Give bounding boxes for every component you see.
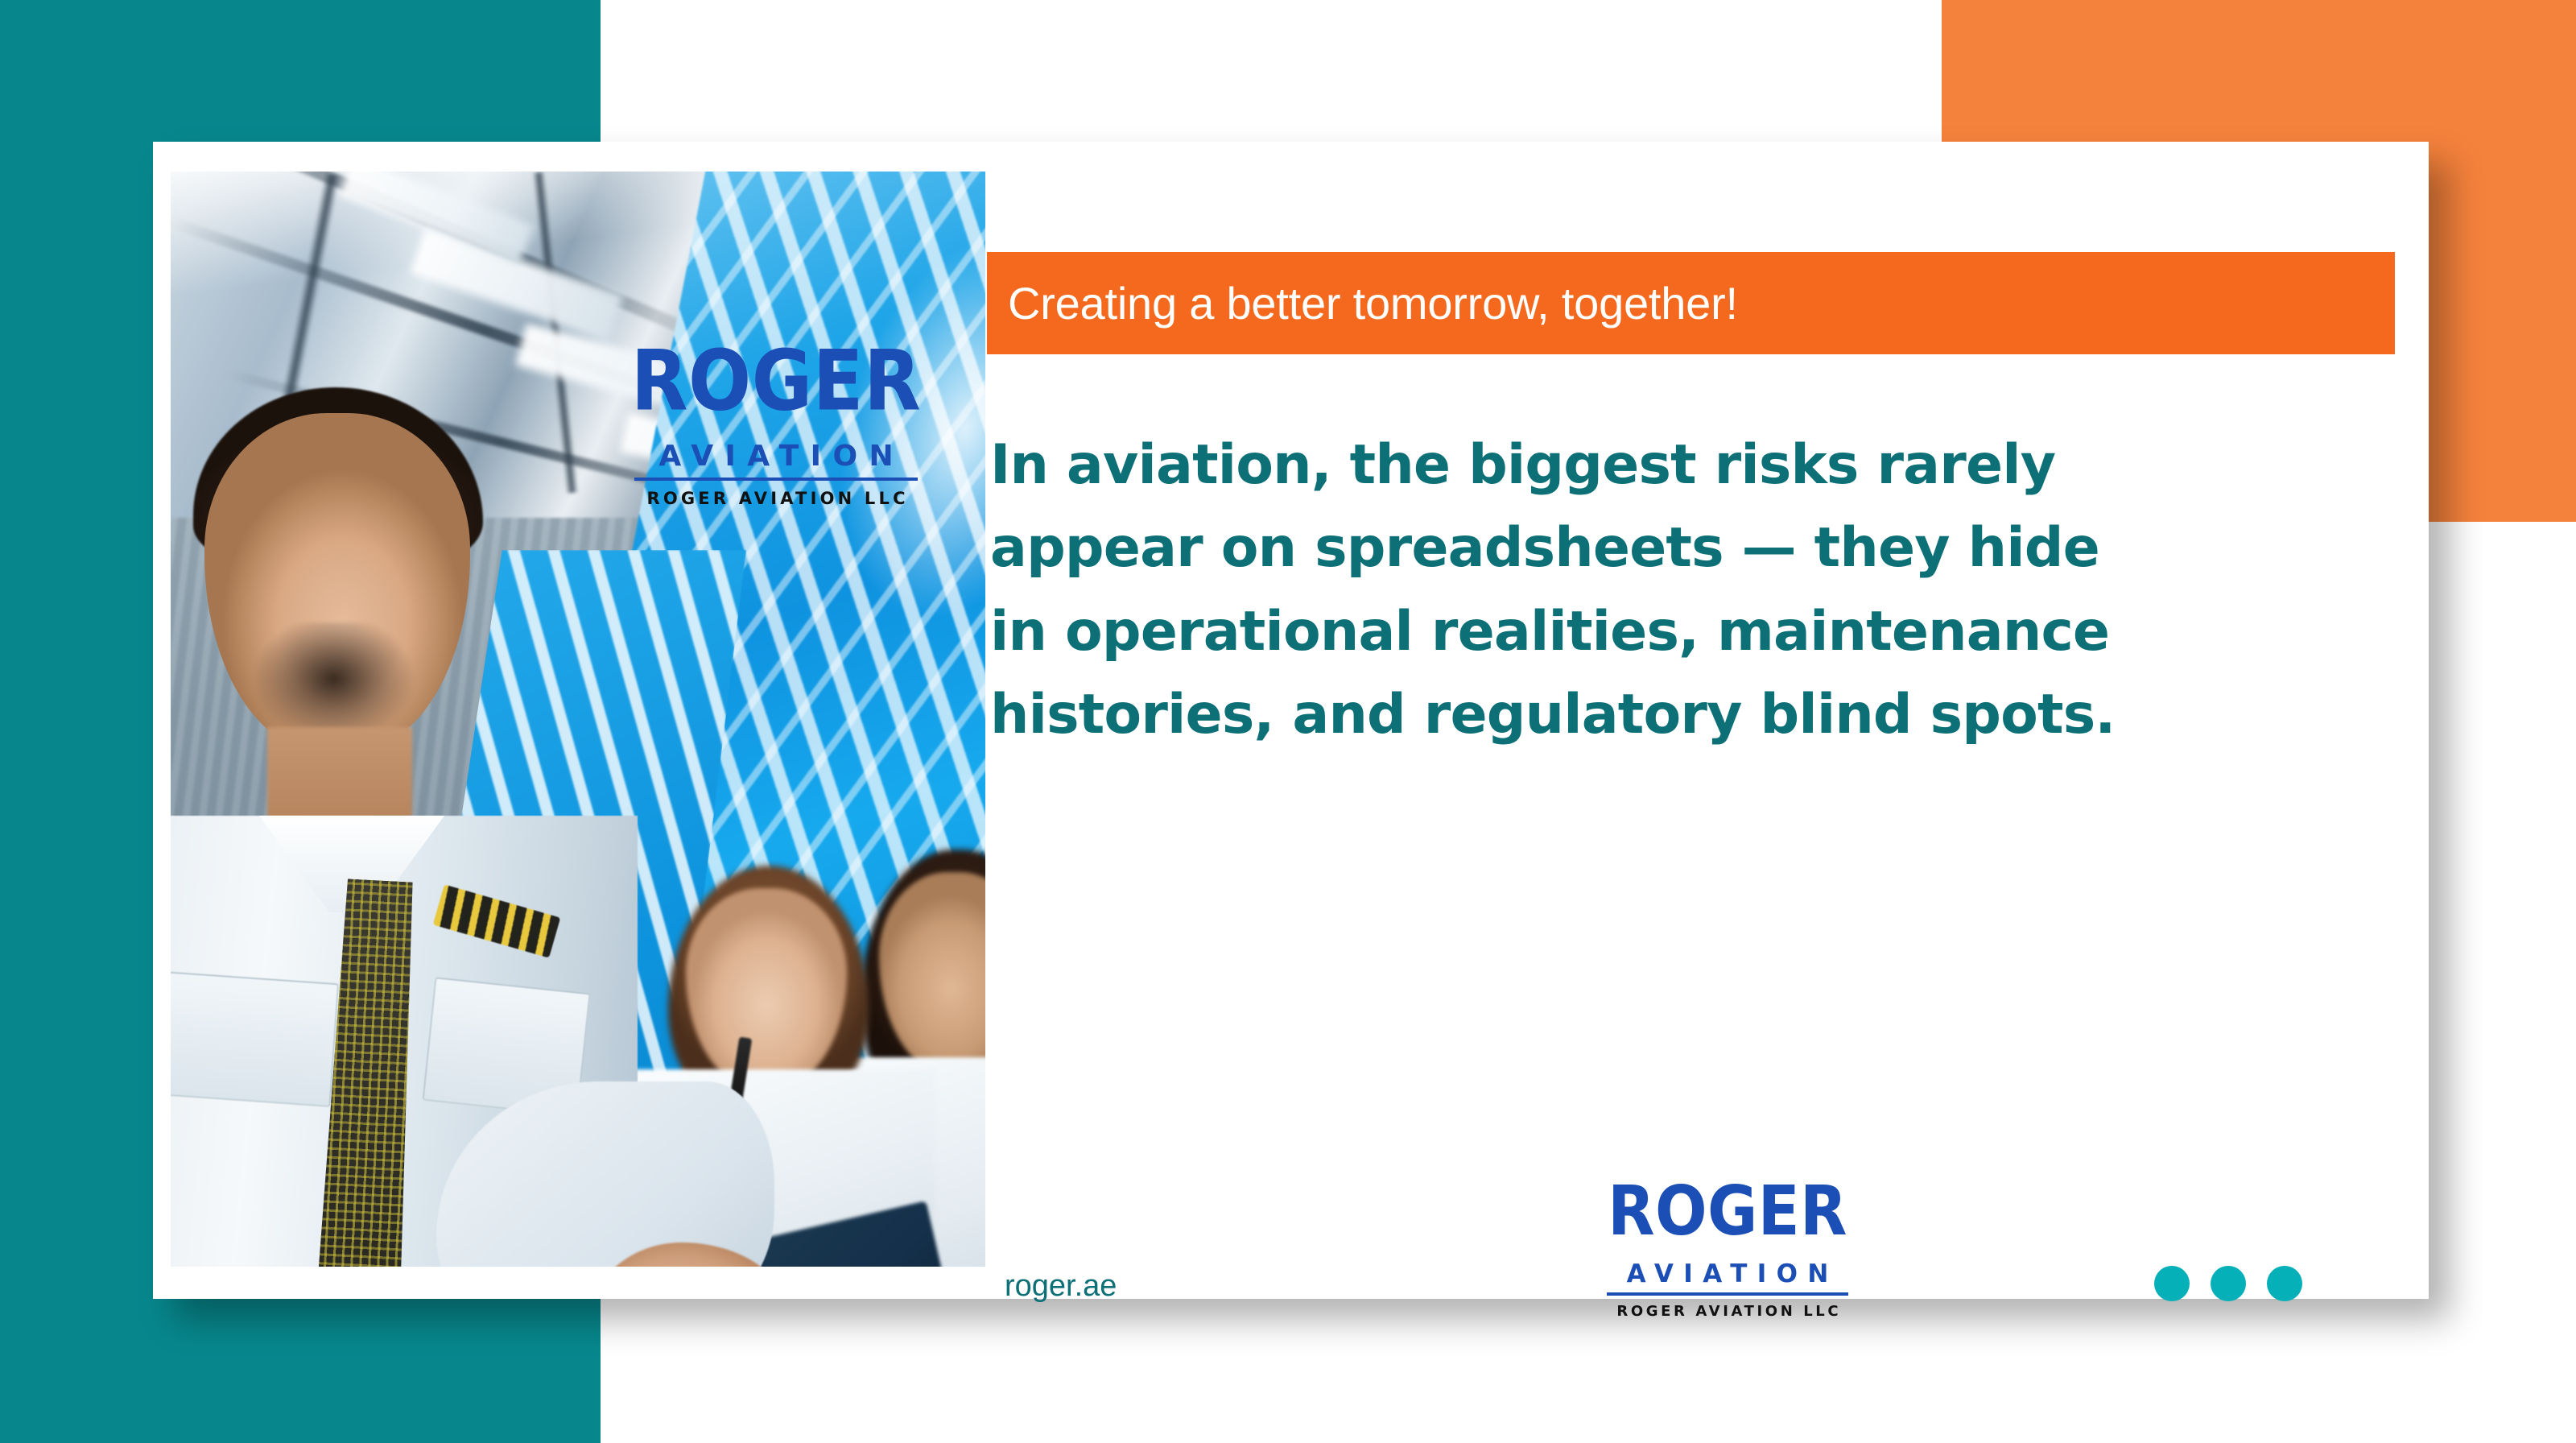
logo-subname: AVIATION xyxy=(1567,1259,1889,1288)
logo-legal-name: ROGER AVIATION LLC xyxy=(1567,1303,1889,1320)
carousel-dot[interactable] xyxy=(2267,1266,2302,1301)
logo-wordmark: ROGER xyxy=(615,342,937,421)
hero-photo: ROGER AVIATION ROGER AVIATION LLC xyxy=(171,172,985,1267)
logo-legal-name: ROGER AVIATION LLC xyxy=(615,489,937,508)
content-card: ROGER AVIATION ROGER AVIATION LLC Creati… xyxy=(153,142,2429,1299)
headline-line: histories, and regulatory blind spots. xyxy=(990,673,2407,756)
carousel-dot[interactable] xyxy=(2154,1266,2190,1301)
logo-wordmark: ROGER xyxy=(1567,1178,1889,1243)
tagline-banner: Creating a better tomorrow, together! xyxy=(987,252,2395,354)
photo-brand-logo: ROGER AVIATION ROGER AVIATION LLC xyxy=(615,350,937,508)
website-url[interactable]: roger.ae xyxy=(1005,1269,1117,1304)
headline-line: in operational realities, maintenance xyxy=(990,590,2407,673)
headline-line: appear on spreadsheets — they hide xyxy=(990,506,2407,589)
photo-shirt-pocket xyxy=(171,970,339,1107)
content-column: Creating a better tomorrow, together! In… xyxy=(987,142,2429,1299)
headline-text: In aviation, the biggest risks rarely ap… xyxy=(990,424,2407,756)
tagline-text: Creating a better tomorrow, together! xyxy=(987,277,1738,329)
footer-brand-logo: ROGER AVIATION ROGER AVIATION LLC xyxy=(1567,1185,1889,1320)
carousel-dot[interactable] xyxy=(2211,1266,2246,1301)
headline-line: In aviation, the biggest risks rarely xyxy=(990,424,2407,506)
carousel-dots xyxy=(2154,1266,2302,1301)
logo-subname: AVIATION xyxy=(615,440,937,473)
logo-divider-rule xyxy=(1607,1292,1848,1296)
logo-divider-rule xyxy=(634,478,918,481)
